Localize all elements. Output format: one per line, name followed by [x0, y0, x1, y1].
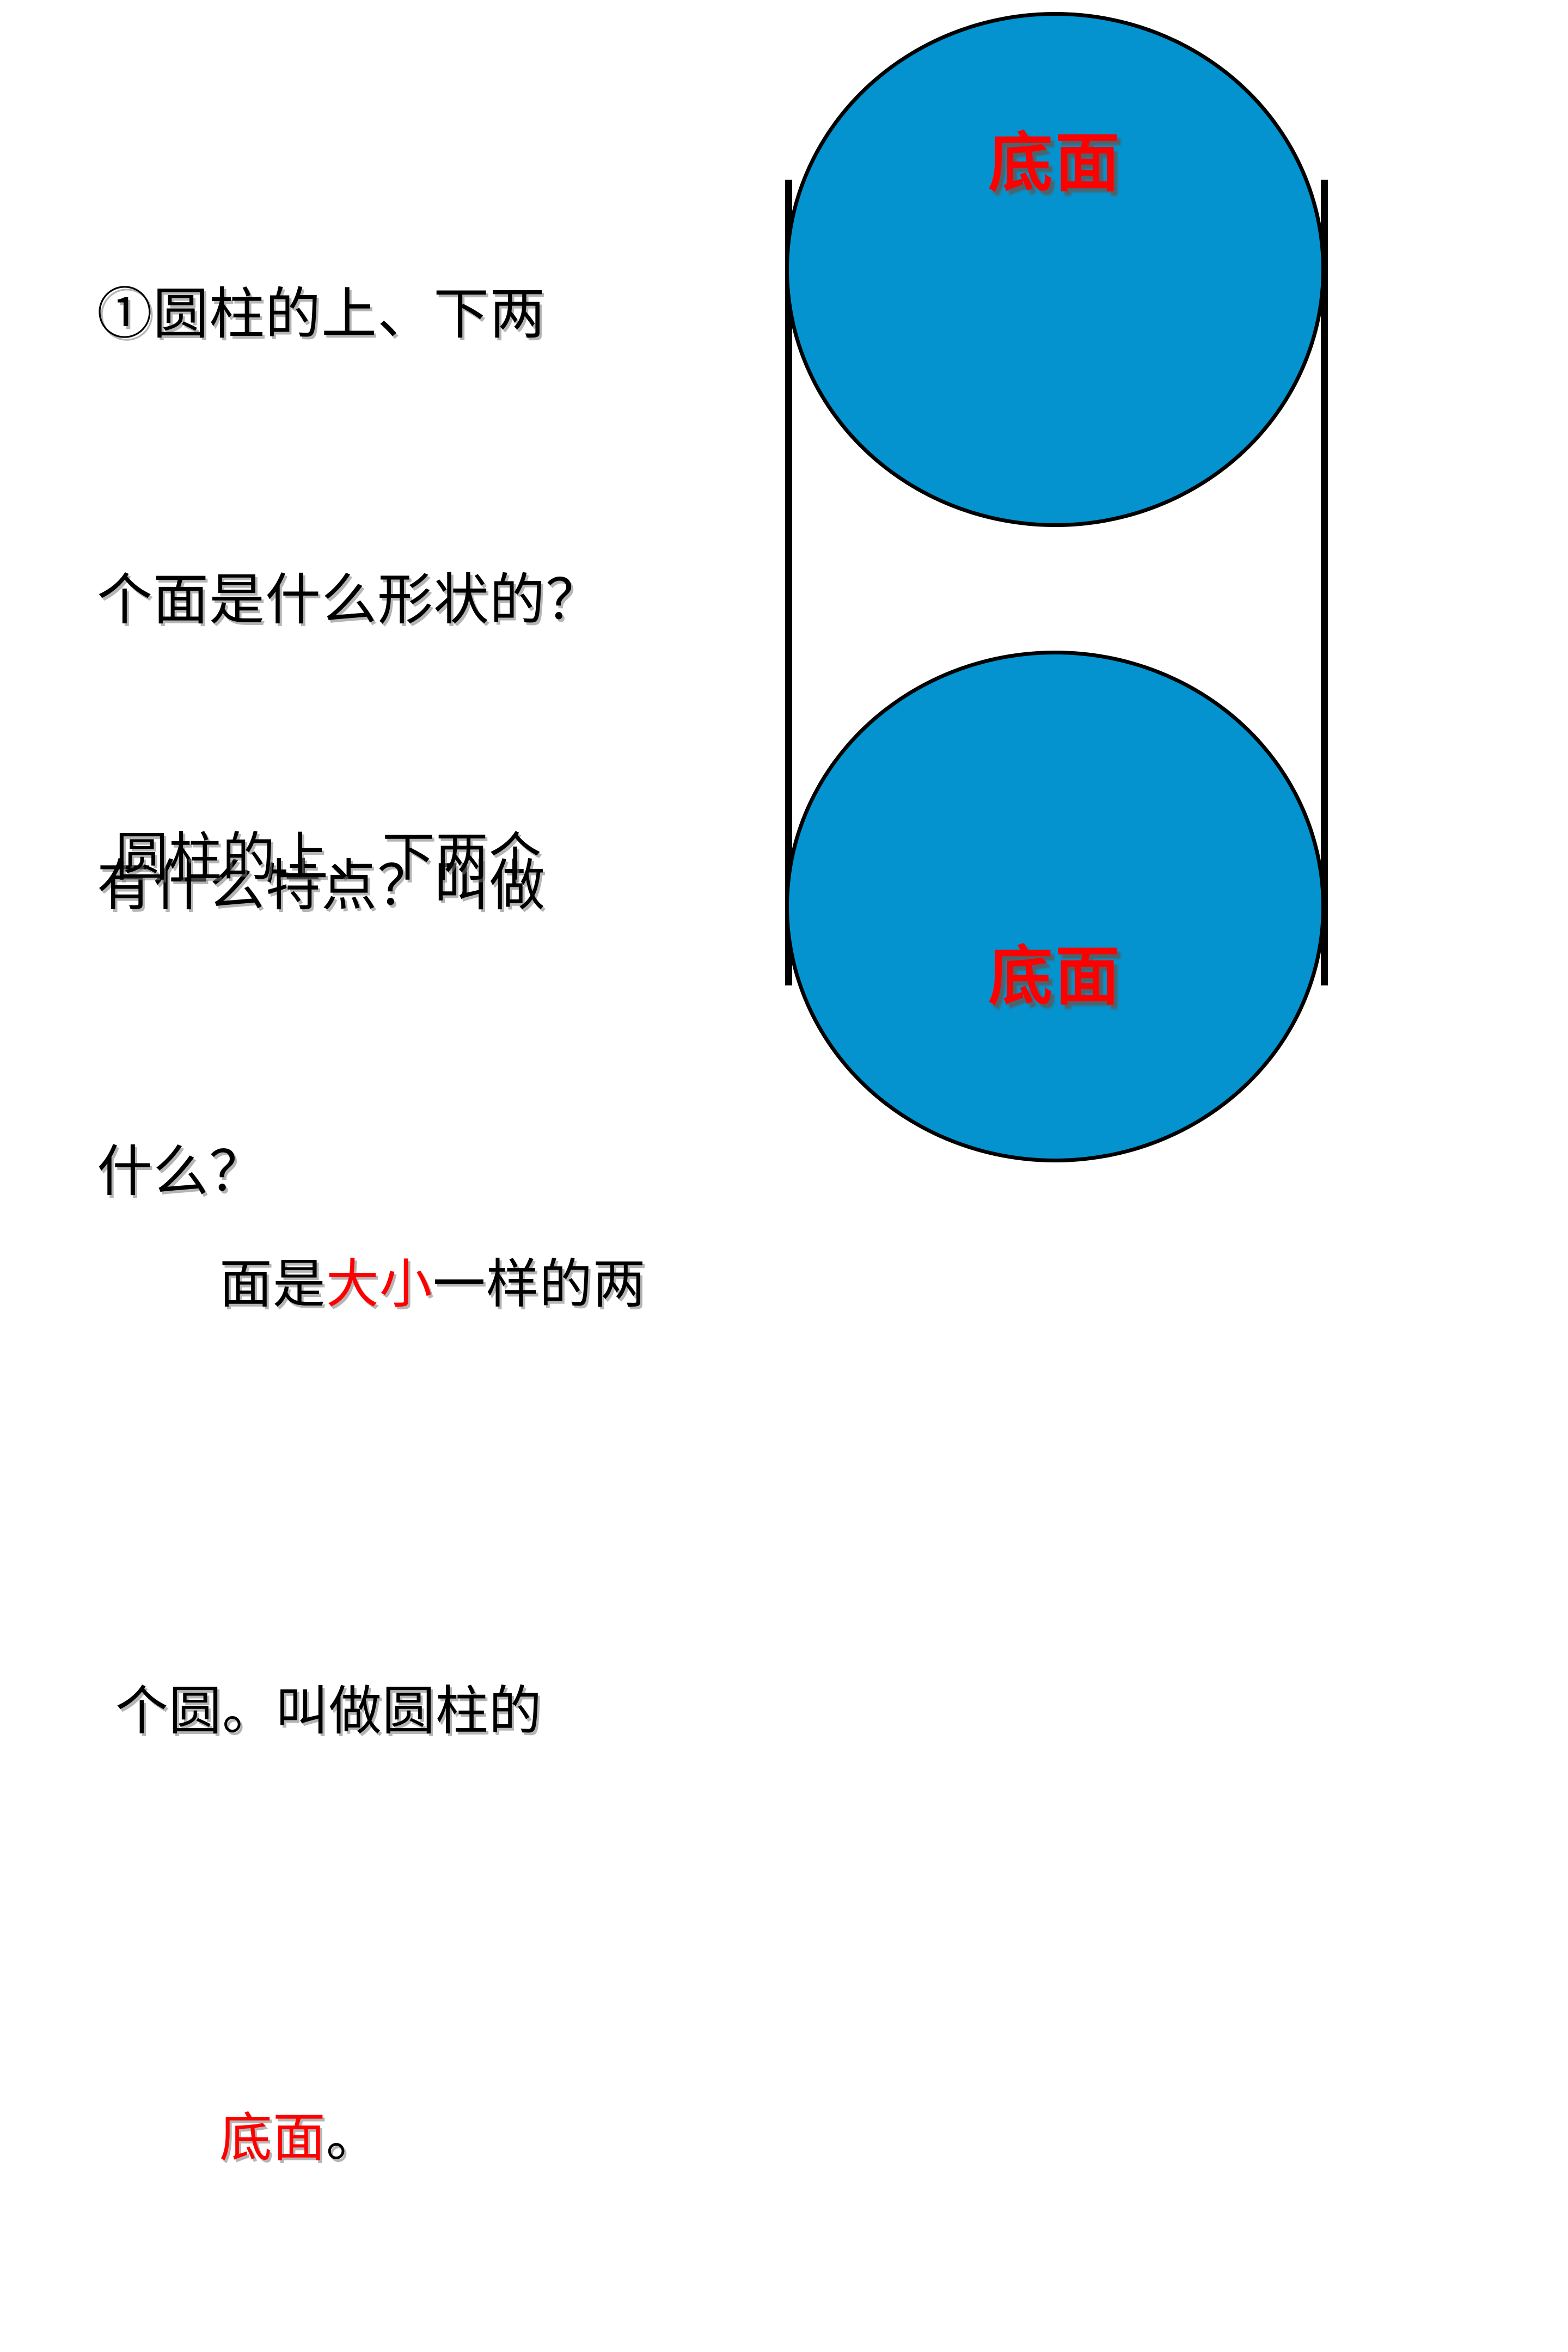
answer-line-1: 圆柱的上、下两个: [115, 804, 665, 911]
answer-text-block: 圆柱的上、下两个 面是大小一样的两 个圆。叫做圆柱的 底面。: [115, 591, 665, 2352]
cylinder-bottom-base-circle: 底面: [785, 651, 1325, 1162]
answer-line-2-prefix: 面是: [219, 1253, 326, 1315]
highlight-size-term: 大小: [326, 1253, 433, 1315]
answer-line-2: 面是大小一样的两: [115, 1124, 665, 1444]
cylinder-top-base-circle: 底面: [785, 12, 1325, 527]
question-line-1: ①圆柱的上、下两: [97, 267, 647, 362]
answer-line-4-suffix: 。: [326, 2107, 379, 2169]
answer-line-3: 个圆。叫做圆柱的: [115, 1658, 665, 1765]
highlight-base-term: 底面: [219, 2107, 326, 2169]
answer-line-4: 底面。: [115, 1978, 665, 2298]
answer-line-2-suffix: 一样的两: [433, 1253, 646, 1315]
slide-canvas: ①圆柱的上、下两 个面是什么形状的？ 有什么特点？叫做 什么？ 圆柱的上、下两个…: [0, 0, 1568, 1176]
cylinder-diagram: 底面 底面: [779, 0, 1334, 1176]
bottom-base-label: 底面: [988, 944, 1122, 1008]
top-base-label: 底面: [988, 131, 1122, 195]
